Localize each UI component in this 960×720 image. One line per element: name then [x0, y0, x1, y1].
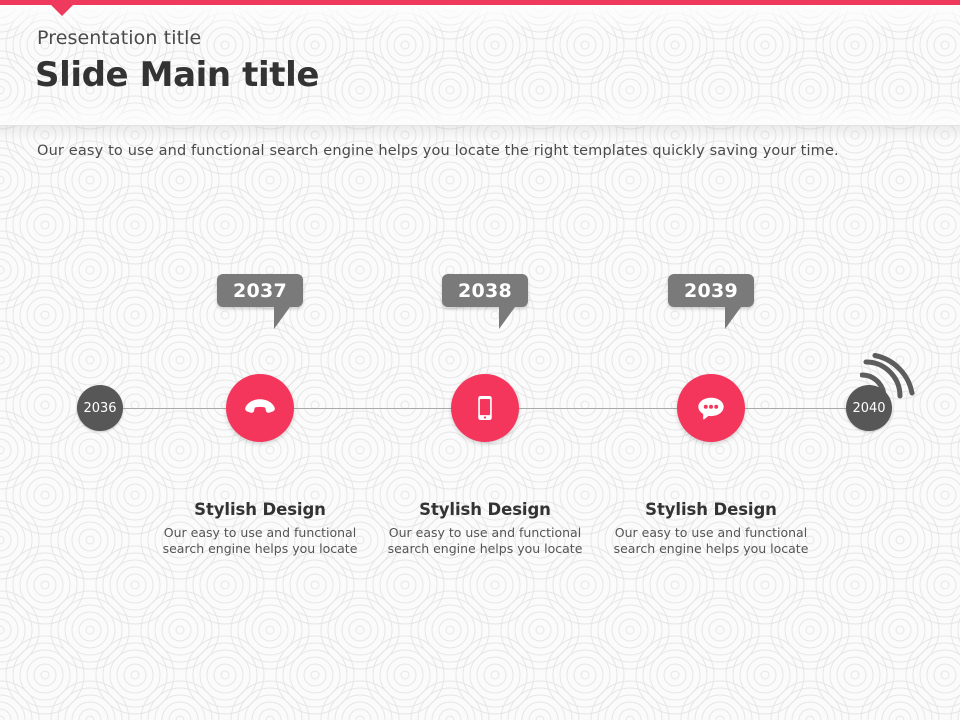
caption-body-line1: Our easy to use and functional [601, 525, 821, 541]
timeline-start-node[interactable]: 2036 [77, 385, 123, 431]
top-accent-bar-notch-icon [51, 5, 73, 16]
year-bubble-label: 2039 [684, 280, 738, 302]
stop-caption-2037: Stylish Design Our easy to use and funct… [150, 500, 370, 557]
caption-body: Our easy to use and functional search en… [375, 525, 595, 557]
timeline-end-node[interactable]: 2040 [846, 385, 892, 431]
year-bubble-label: 2037 [233, 280, 287, 302]
caption-title: Stylish Design [601, 500, 821, 519]
caption-title: Stylish Design [150, 500, 370, 519]
year-bubble-2039[interactable]: 2039 [668, 274, 754, 307]
year-bubble-2038[interactable]: 2038 [442, 274, 528, 307]
timeline-end-label: 2040 [852, 401, 885, 416]
timeline-stop-circle[interactable] [226, 374, 294, 442]
phone-handset-icon [241, 389, 279, 427]
timeline-stop-circle[interactable] [677, 374, 745, 442]
year-bubble-tail [499, 307, 515, 329]
caption-body: Our easy to use and functional search en… [150, 525, 370, 557]
caption-body-line1: Our easy to use and functional [375, 525, 595, 541]
timeline-start-label: 2036 [83, 401, 116, 416]
top-accent-bar [0, 0, 960, 5]
stop-caption-2039: Stylish Design Our easy to use and funct… [601, 500, 821, 557]
caption-body-line2: search engine helps you locate [150, 541, 370, 557]
caption-body-line2: search engine helps you locate [375, 541, 595, 557]
timeline-stop-circle[interactable] [451, 374, 519, 442]
chat-bubble-icon [692, 389, 730, 427]
smartphone-icon [467, 390, 503, 426]
timeline: 2036 2037 Stylish Design Our easy to use… [0, 0, 960, 720]
caption-body-line2: search engine helps you locate [601, 541, 821, 557]
stop-caption-2038: Stylish Design Our easy to use and funct… [375, 500, 595, 557]
caption-title: Stylish Design [375, 500, 595, 519]
top-accent-bar-fill [0, 0, 960, 5]
year-bubble-tail [725, 307, 741, 329]
caption-body-line1: Our easy to use and functional [150, 525, 370, 541]
year-bubble-label: 2038 [458, 280, 512, 302]
year-bubble-tail [274, 307, 290, 329]
slide-canvas: Presentation title Slide Main title Our … [0, 0, 960, 720]
caption-body: Our easy to use and functional search en… [601, 525, 821, 557]
year-bubble-2037[interactable]: 2037 [217, 274, 303, 307]
